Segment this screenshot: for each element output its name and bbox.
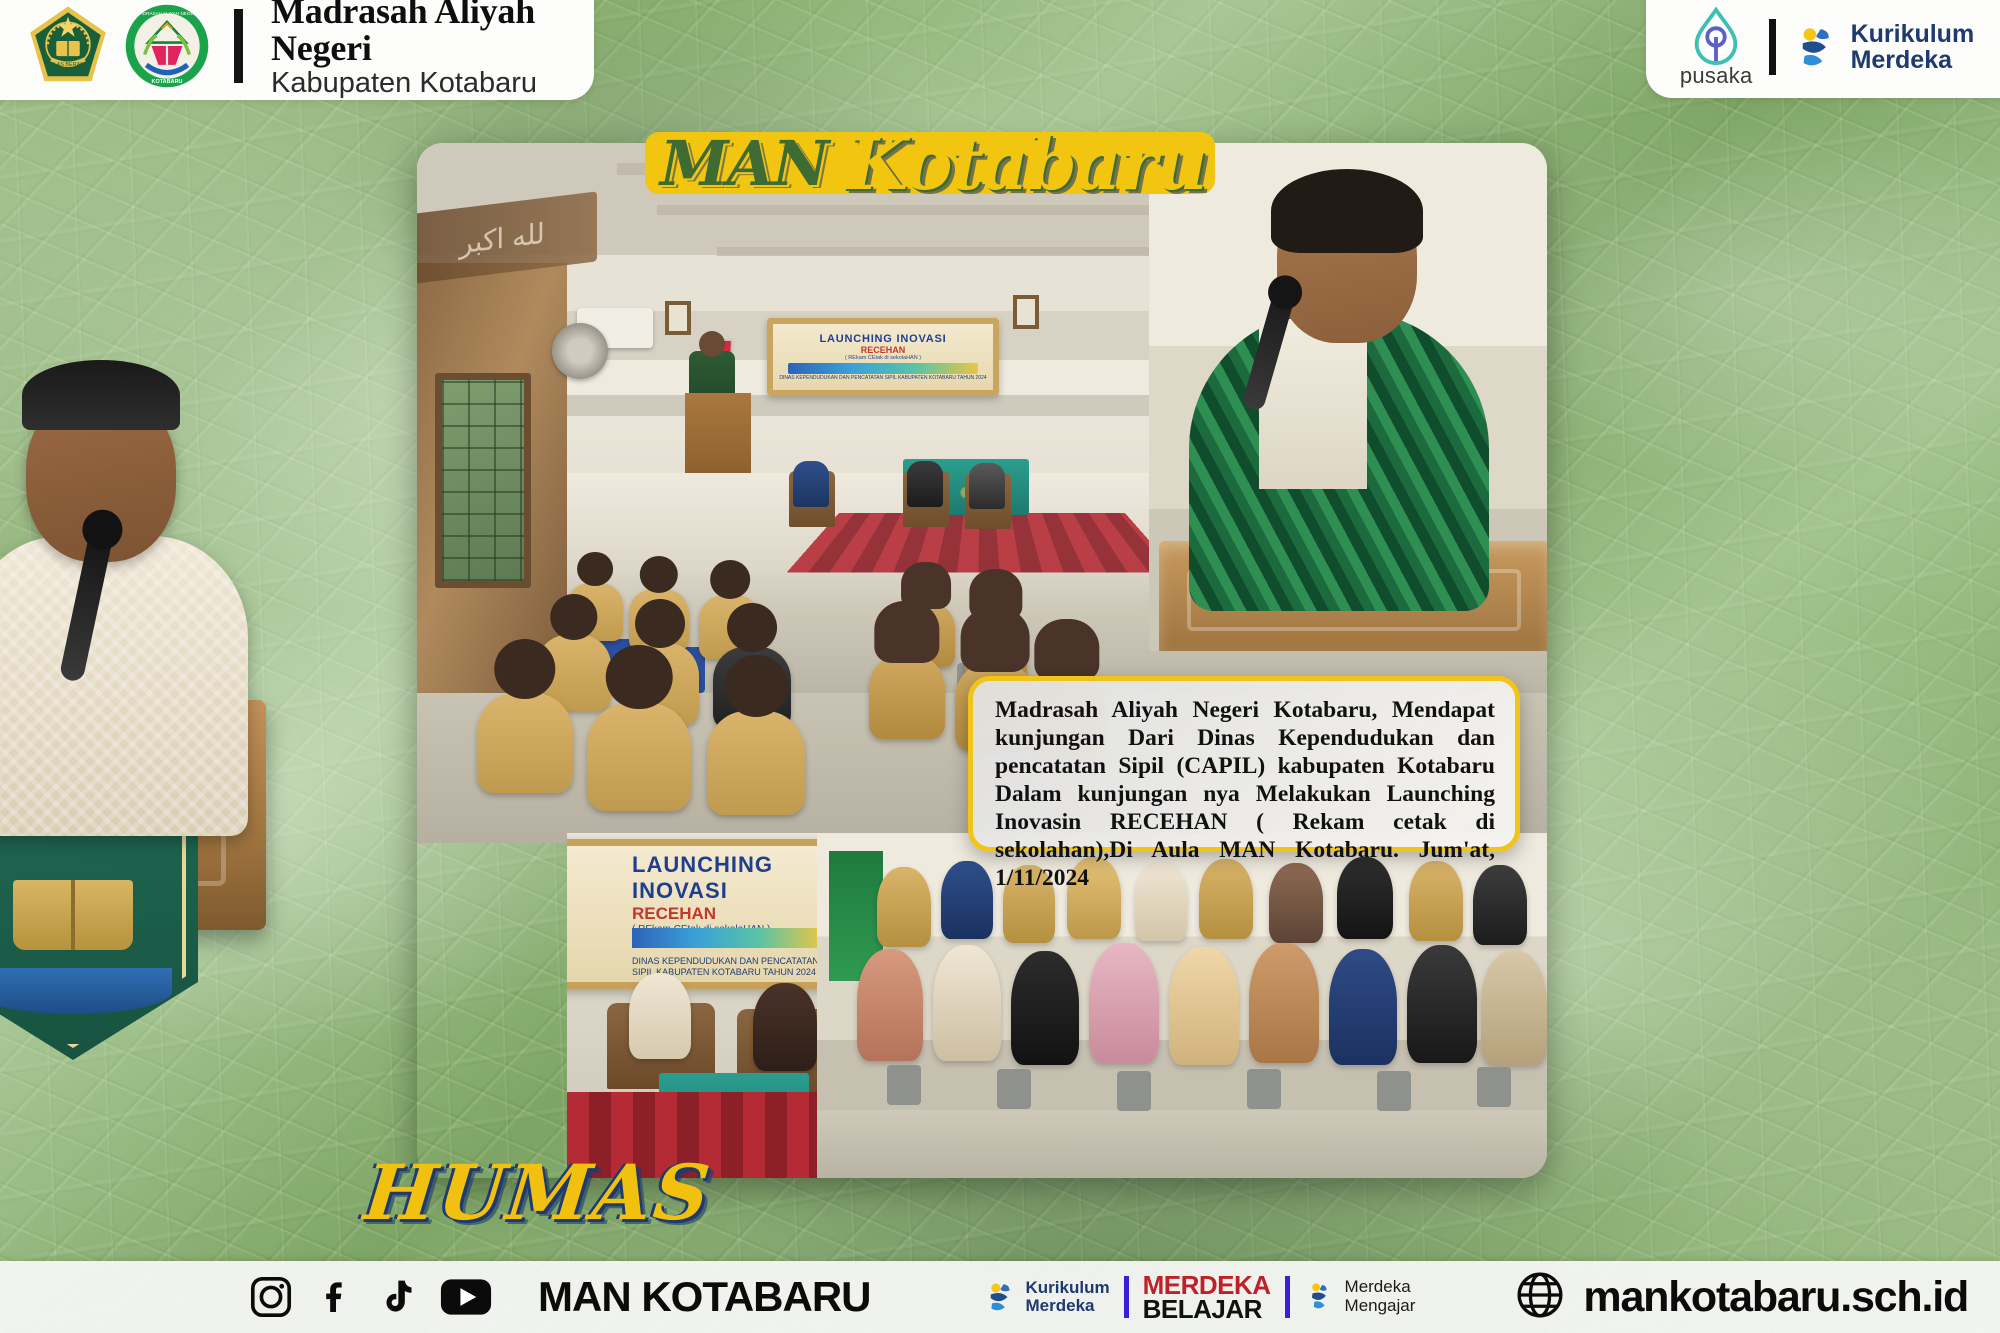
inset-banner-line2: RECEHAN (632, 904, 832, 924)
wave-shape (0, 968, 172, 1014)
crowd-person (1011, 951, 1079, 1065)
crowd-chair (1477, 1067, 1511, 1107)
head (606, 645, 673, 710)
merdeka-mengajar-logo: Merdeka Mengajar (1304, 1278, 1416, 1315)
head (577, 552, 613, 587)
tiktok-icon[interactable] (378, 1274, 418, 1320)
podium-speaker (0, 350, 256, 810)
footer-bar: MAN KOTABARU Kurikulum Merdeka MERDEKA B… (0, 1261, 2000, 1333)
head (710, 560, 750, 598)
svg-text:IKHLAS BERAMAL: IKHLAS BERAMAL (45, 62, 92, 68)
globe-icon (1515, 1270, 1565, 1325)
footer-divider (1285, 1276, 1290, 1318)
header-title: Madrasah Aliyah Negeri (271, 0, 594, 66)
caption-box: Madrasah Aliyah Negeri Kotabaru, Mendapa… (968, 676, 1520, 852)
svg-text:KOTABARU: KOTABARU (151, 79, 182, 85)
social-handle: MAN KOTABARU (538, 1273, 871, 1321)
social-icons: MAN KOTABARU (248, 1273, 871, 1321)
crowd-person (1407, 945, 1477, 1063)
head (494, 639, 555, 699)
head (725, 655, 788, 717)
crowd-chair (1247, 1069, 1281, 1109)
kurikulum-merdeka-icon (1792, 22, 1842, 72)
kurikulum-merdeka-icon (983, 1279, 1019, 1315)
head (727, 603, 777, 652)
header-right-badge: pusaka Kurikulum Merdeka (1646, 0, 2000, 98)
vip-seating (717, 463, 1177, 533)
kurikulum-line2: Merdeka (1851, 47, 1975, 73)
crowd-person (1481, 951, 1547, 1065)
banner-line3: ( REkam CEtak di sekolaHAN ) (845, 355, 921, 361)
mengajar-line1: Merdeka (1345, 1278, 1416, 1297)
arabic-calligraphy (417, 191, 597, 284)
stage-person (629, 973, 691, 1059)
man-kotabaru-logo: MADRASAH ALIYAH NEGERI KOTABARU (124, 3, 210, 89)
script-title-man: MAN (660, 127, 827, 200)
crowd-chair (887, 1065, 921, 1105)
inset-banner-colorbar (632, 928, 822, 948)
vip-person (907, 461, 943, 507)
crowd-person (1169, 947, 1239, 1065)
crowd-person (1329, 949, 1397, 1065)
book-icon (13, 880, 133, 950)
vip-person (793, 461, 829, 507)
merdeka-mengajar-icon (1304, 1279, 1338, 1315)
svg-text:MADRASAH ALIYAH NEGERI: MADRASAH ALIYAH NEGERI (136, 11, 198, 16)
script-title-kotabaru: Kotabaru (845, 121, 1205, 206)
footer-kurikulum-merdeka: Kurikulum Merdeka (983, 1279, 1110, 1316)
crowd-floor (817, 1110, 1547, 1178)
crowd-person (941, 861, 993, 939)
header-divider (234, 9, 243, 83)
poster-script-title: MAN Kotabaru (660, 120, 1360, 206)
crowd-person (857, 949, 923, 1061)
merdeka-line2: BELAJAR (1143, 1297, 1271, 1321)
humas-watermark: HUMAS (360, 1148, 715, 1237)
header-left-badge: IKHLAS BERAMAL MADRASAH ALIYAH NEGERI KO… (0, 0, 594, 100)
head (635, 599, 685, 648)
merdeka-mengajar-text: Merdeka Mengajar (1345, 1278, 1416, 1315)
audience-student (869, 655, 945, 739)
footer-kurikulum-line1: Kurikulum (1026, 1279, 1110, 1297)
footer-kurikulum-line2: Merdeka (1026, 1297, 1110, 1315)
wall-frame (665, 301, 691, 335)
crowd-chair (1377, 1071, 1411, 1111)
kurikulum-merdeka-logo: Kurikulum Merdeka (1792, 21, 1975, 73)
speaker-white-shirt (0, 536, 248, 836)
merdeka-logo-group: Kurikulum Merdeka MERDEKA BELAJAR Merdek… (983, 1273, 1416, 1322)
mengajar-line2: Mengajar (1345, 1297, 1416, 1316)
head (640, 556, 678, 593)
banner-colorbar (788, 363, 977, 374)
kurikulum-line1: Kurikulum (1851, 21, 1975, 47)
banner-line4: DINAS KEPENDUDUKAN DAN PENCATATAN SIPIL … (779, 376, 986, 382)
poster-canvas: IKHLAS BERAMAL MADRASAH ALIYAH NEGERI KO… (0, 0, 2000, 1333)
kurikulum-merdeka-text: Kurikulum Merdeka (1851, 21, 1975, 73)
wall-frame (1013, 295, 1039, 329)
audience-student (707, 711, 805, 815)
inset-stage-banner: LAUNCHING INOVASI RECEHAN ( REkam CEtak … (567, 839, 839, 989)
crowd-person (1089, 943, 1159, 1063)
crowd-person (1249, 943, 1319, 1063)
audience-student (477, 693, 573, 793)
podium-speaker-inset: ★ (0, 230, 296, 1170)
crowd-person (933, 945, 1001, 1061)
website-url: mankotabaru.sch.id (1583, 1273, 1968, 1322)
wall-fan (552, 323, 608, 379)
head (874, 601, 939, 663)
speaker-inset-photo (1149, 143, 1547, 651)
audience-student (587, 703, 691, 811)
banner-line2: RECEHAN (861, 345, 906, 355)
crowd-chair (997, 1069, 1031, 1109)
banner-line1: LAUNCHING INOVASI (819, 333, 946, 345)
head (550, 594, 597, 640)
vip-person (969, 463, 1005, 509)
merdeka-belajar-logo: MERDEKA BELAJAR (1143, 1273, 1271, 1322)
header-right-divider (1769, 19, 1776, 75)
facebook-icon[interactable] (316, 1274, 356, 1320)
instagram-icon[interactable] (248, 1274, 294, 1320)
caption-text: Madrasah Aliyah Negeri Kotabaru, Mendapa… (995, 697, 1495, 893)
pusaka-logo: pusaka (1680, 5, 1753, 89)
header-titles: Madrasah Aliyah Negeri Kabupaten Kotabar… (271, 0, 594, 99)
inset-banner-line1: LAUNCHING INOVASI (632, 852, 832, 904)
stage-banner: LAUNCHING INOVASI RECEHAN ( REkam CEtak … (767, 318, 999, 396)
crowd-chair (1117, 1071, 1151, 1111)
stage-person (753, 983, 817, 1071)
kemenag-logo: IKHLAS BERAMAL (26, 3, 110, 89)
pusaka-droplet-icon (1685, 5, 1747, 67)
head (1034, 619, 1099, 681)
pusaka-label: pusaka (1680, 63, 1753, 89)
head (961, 607, 1030, 672)
footer-kurikulum-text: Kurikulum Merdeka (1026, 1279, 1110, 1316)
main-photo-card: LAUNCHING INOVASI RECEHAN ( REkam CEtak … (417, 143, 1547, 1178)
website-group[interactable]: mankotabaru.sch.id (1515, 1270, 1968, 1325)
footer-divider (1124, 1276, 1129, 1318)
youtube-icon[interactable] (440, 1274, 492, 1320)
peci-cap (22, 360, 180, 430)
header-subtitle: Kabupaten Kotabaru (271, 69, 594, 99)
ceiling-beam (717, 247, 1217, 256)
crowd-person (877, 867, 931, 947)
